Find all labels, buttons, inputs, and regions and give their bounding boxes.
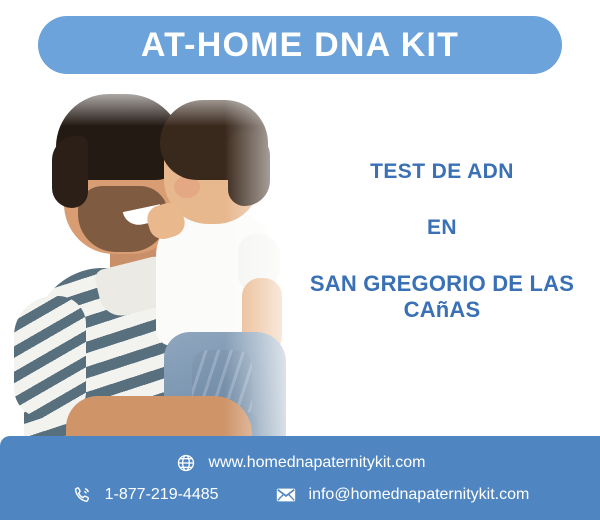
- footer-website-item[interactable]: www.homednapaternitykit.com: [175, 452, 426, 474]
- header-banner: AT-HOME DNA KIT: [38, 16, 562, 74]
- heading-location: SAN GREGORIO DE LAS CAñAS: [292, 271, 592, 323]
- footer-contact-row: 1-877-219-4485 info@homednapaternitykit.…: [0, 484, 600, 506]
- banner-title: AT-HOME DNA KIT: [141, 28, 459, 62]
- family-photo-art: [6, 82, 318, 450]
- man-sideburn: [52, 136, 88, 208]
- footer-phone-text: 1-877-219-4485: [105, 487, 219, 503]
- family-photo: [6, 82, 318, 450]
- heading-block: TEST DE ADN EN SAN GREGORIO DE LAS CAñAS: [292, 160, 592, 323]
- footer-email-item[interactable]: info@homednapaternitykit.com: [275, 484, 530, 506]
- footer-email-text: info@homednapaternitykit.com: [309, 487, 530, 503]
- footer-website-row: www.homednapaternitykit.com: [0, 452, 600, 474]
- heading-en: EN: [292, 216, 592, 239]
- heading-test-de-adn: TEST DE ADN: [292, 160, 592, 183]
- footer-bar: www.homednapaternitykit.com 1-877-219-44…: [0, 436, 600, 520]
- phone-icon: [71, 484, 93, 506]
- poster: AT-HOME DNA KIT: [0, 0, 600, 520]
- envelope-icon: [275, 484, 297, 506]
- footer-website-text: www.homednapaternitykit.com: [209, 455, 426, 471]
- child-hair-side: [228, 132, 270, 206]
- footer-phone-item[interactable]: 1-877-219-4485: [71, 484, 219, 506]
- globe-icon: [175, 452, 197, 474]
- man-sleeve: [14, 296, 86, 418]
